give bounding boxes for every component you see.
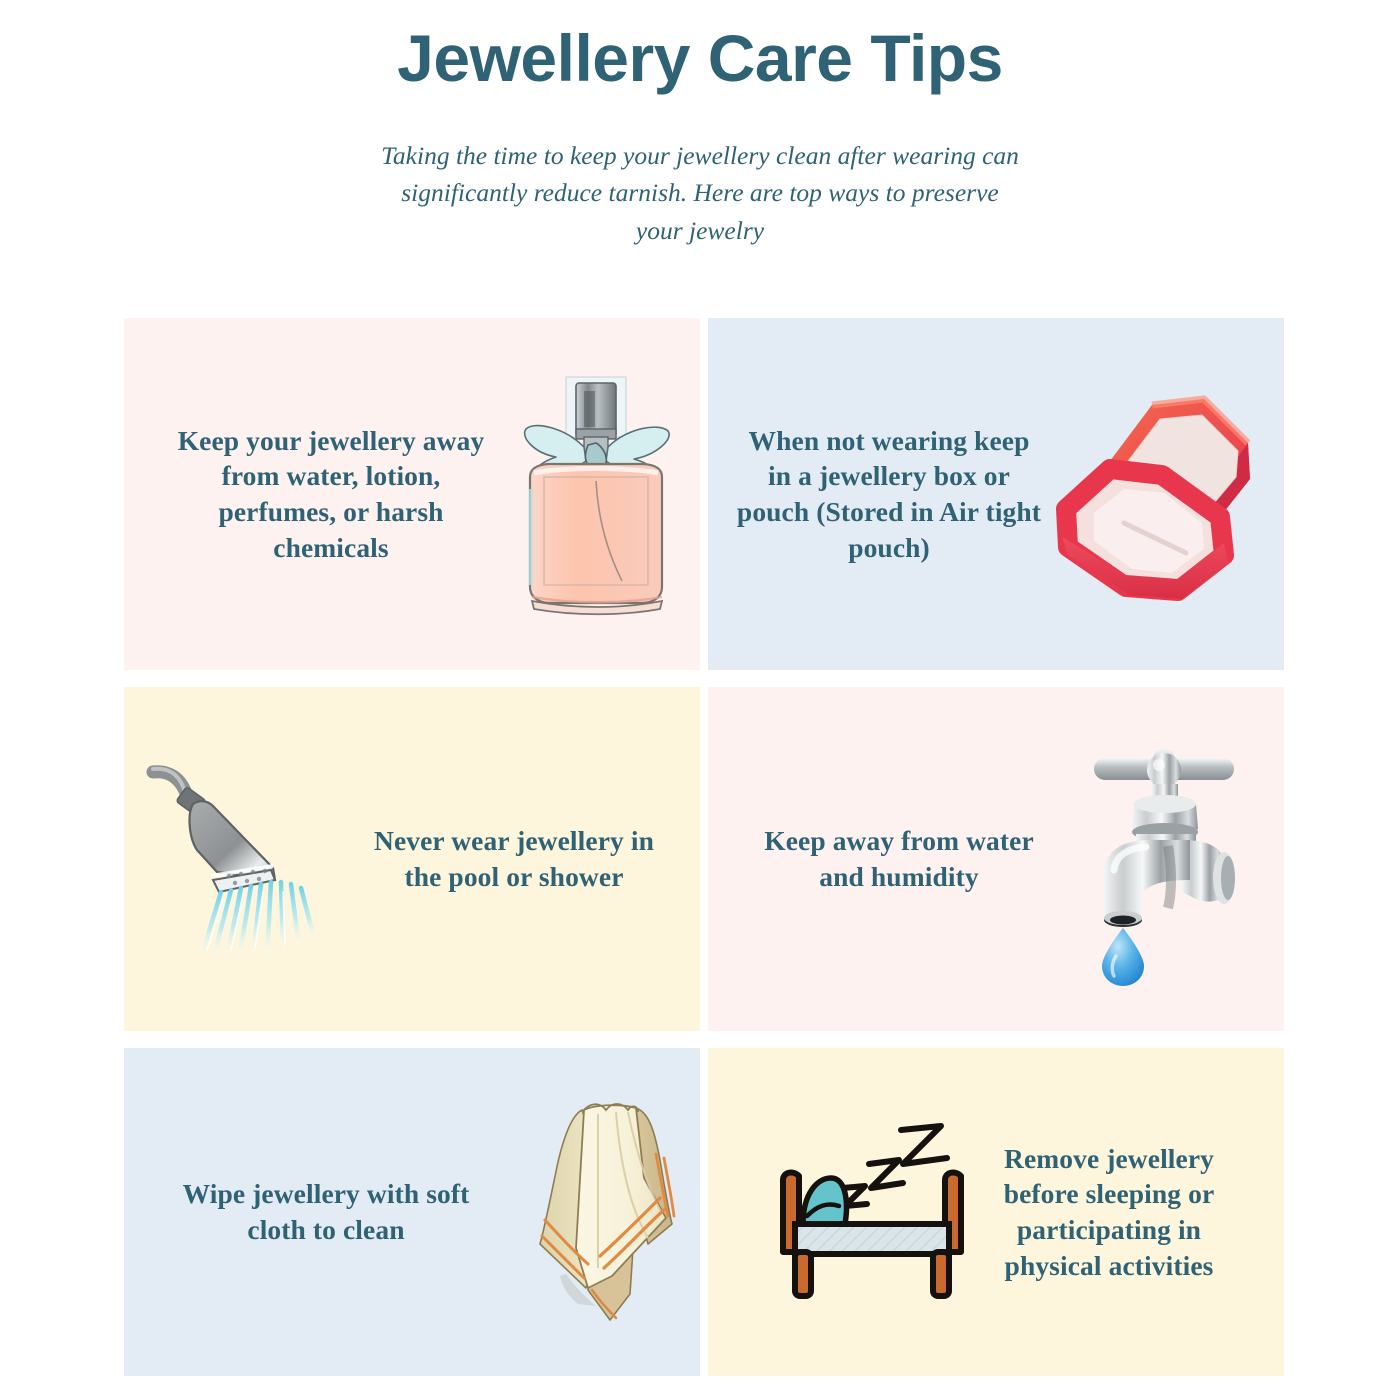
tip-card-1[interactable]: Keep your jewellery away from water, lot… bbox=[124, 318, 700, 670]
tip-card-5-text: Wipe jewellery with soft cloth to clean bbox=[176, 1176, 476, 1248]
cloth-icon bbox=[526, 1098, 700, 1326]
tip-card-3[interactable]: Never wear jewellery in the pool or show… bbox=[124, 687, 700, 1031]
tip-card-6[interactable]: Remove jewellery before sleeping or part… bbox=[708, 1048, 1284, 1376]
tip-card-2[interactable]: When not wearing keep in a jewellery box… bbox=[708, 318, 1284, 670]
perfume-bottle-icon bbox=[504, 369, 689, 619]
tip-card-4[interactable]: Keep away from water and humidity bbox=[708, 687, 1284, 1031]
shower-head-icon bbox=[149, 752, 364, 967]
tip-card-2-text: When not wearing keep in a jewellery box… bbox=[734, 423, 1044, 566]
ring-box-icon bbox=[1052, 377, 1267, 612]
page-subtitle: Taking the time to keep your jewellery c… bbox=[380, 137, 1020, 250]
tip-card-3-text: Never wear jewellery in the pool or show… bbox=[364, 823, 664, 895]
tip-card-5[interactable]: Wipe jewellery with soft cloth to clean bbox=[124, 1048, 700, 1376]
page-title: Jewellery Care Tips bbox=[0, 22, 1400, 95]
faucet-drip-icon bbox=[1072, 742, 1257, 977]
tip-card-4-text: Keep away from water and humidity bbox=[760, 823, 1038, 895]
tips-grid: Keep your jewellery away from water, lot… bbox=[124, 318, 1276, 1376]
tip-card-6-text: Remove jewellery before sleeping or part… bbox=[974, 1141, 1244, 1284]
bed-sleep-icon bbox=[769, 1120, 974, 1305]
infographic-page: Jewellery Care Tips Taking the time to k… bbox=[0, 0, 1400, 1400]
header: Jewellery Care Tips Taking the time to k… bbox=[0, 0, 1400, 250]
tip-card-1-text: Keep your jewellery away from water, lot… bbox=[166, 423, 496, 566]
